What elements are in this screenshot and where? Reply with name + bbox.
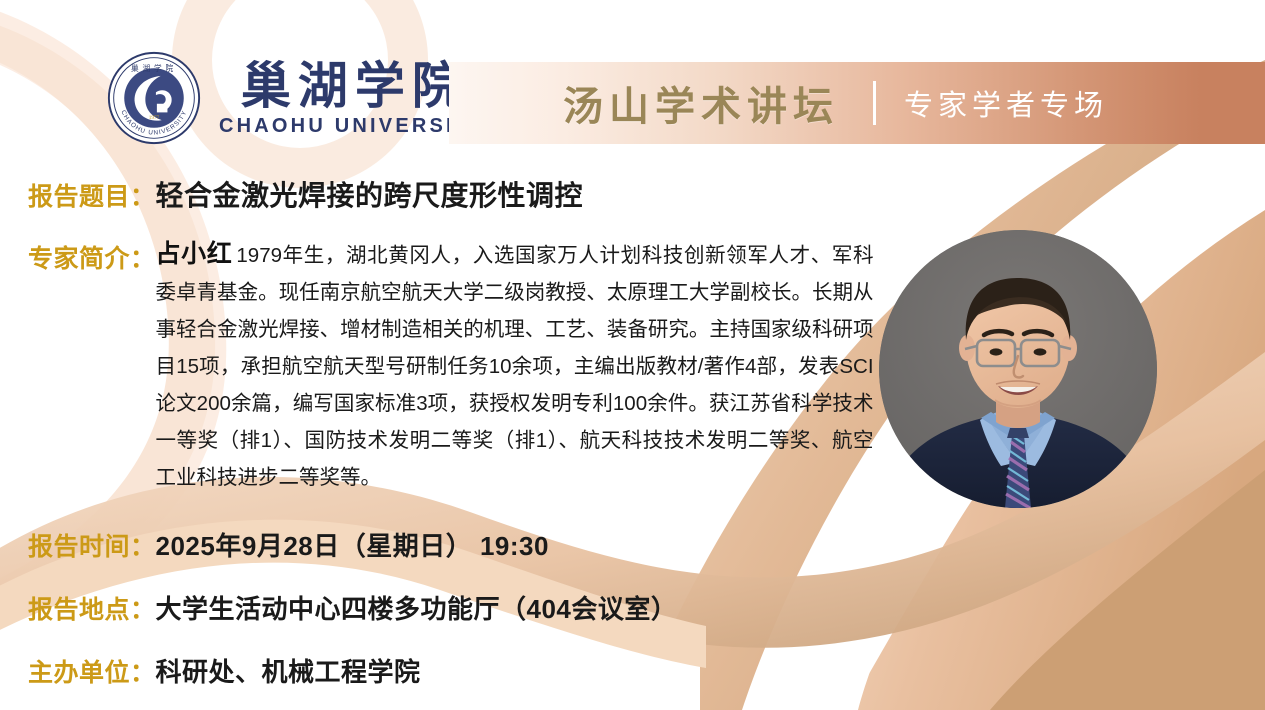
lecture-place: 大学生活动中心四楼多功能厅（404会议室） bbox=[156, 589, 678, 626]
banner-divider bbox=[873, 81, 876, 125]
university-logo: 1977 巢湖学院 CHAOHU UNIVERSITY 巢湖学院 CHAOHU … bbox=[106, 50, 487, 146]
bio-body: 占小红1979年生，湖北黄冈人，入选国家万人计划科技创新领军人才、军科委卓青基金… bbox=[156, 236, 874, 496]
svg-text:巢湖学院: 巢湖学院 bbox=[131, 63, 177, 73]
title-label: 报告题目： bbox=[28, 177, 156, 213]
time-label: 报告时间： bbox=[28, 527, 156, 563]
field-row-title: 报告题目： 轻合金激光焊接的跨尺度形性调控 bbox=[0, 174, 1265, 214]
university-name-cn: 巢湖学院 bbox=[234, 60, 469, 113]
speaker-name: 占小红 bbox=[156, 240, 233, 268]
place-label: 报告地点： bbox=[28, 590, 156, 626]
lecture-poster: 1977 巢湖学院 CHAOHU UNIVERSITY 巢湖学院 CHAOHU … bbox=[0, 0, 1265, 710]
field-row-time: 报告时间： 2025年9月28日（星期日） 19:30 bbox=[0, 526, 1265, 563]
speaker-portrait-image bbox=[879, 230, 1157, 508]
lecture-time: 2025年9月28日（星期日） 19:30 bbox=[156, 526, 549, 563]
bio-label: 专家简介： bbox=[28, 236, 156, 275]
poster-header: 1977 巢湖学院 CHAOHU UNIVERSITY 巢湖学院 CHAOHU … bbox=[0, 0, 1265, 160]
field-row-place: 报告地点： 大学生活动中心四楼多功能厅（404会议室） bbox=[0, 589, 1265, 626]
lecture-title: 轻合金激光焊接的跨尺度形性调控 bbox=[156, 174, 584, 214]
banner-subtitle: 专家学者专场 bbox=[904, 82, 1108, 124]
speaker-portrait bbox=[879, 230, 1157, 508]
lecture-series-banner: 汤山学术讲坛 专家学者专场 bbox=[449, 62, 1265, 144]
chaohu-university-seal-icon: 1977 巢湖学院 CHAOHU UNIVERSITY bbox=[106, 50, 202, 146]
banner-title: 汤山学术讲坛 bbox=[563, 74, 839, 132]
lecture-host: 科研处、机械工程学院 bbox=[156, 652, 421, 689]
university-wordmark: 巢湖学院 CHAOHU UNIVERSITY bbox=[216, 60, 487, 139]
university-name-en: CHAOHU UNIVERSITY bbox=[216, 115, 487, 138]
field-row-host: 主办单位： 科研处、机械工程学院 bbox=[0, 652, 1265, 689]
bio-text: 1979年生，湖北黄冈人，入选国家万人计划科技创新领军人才、军科委卓青基金。现任… bbox=[156, 244, 874, 489]
svg-text:1977: 1977 bbox=[149, 115, 160, 121]
host-label: 主办单位： bbox=[28, 653, 156, 689]
